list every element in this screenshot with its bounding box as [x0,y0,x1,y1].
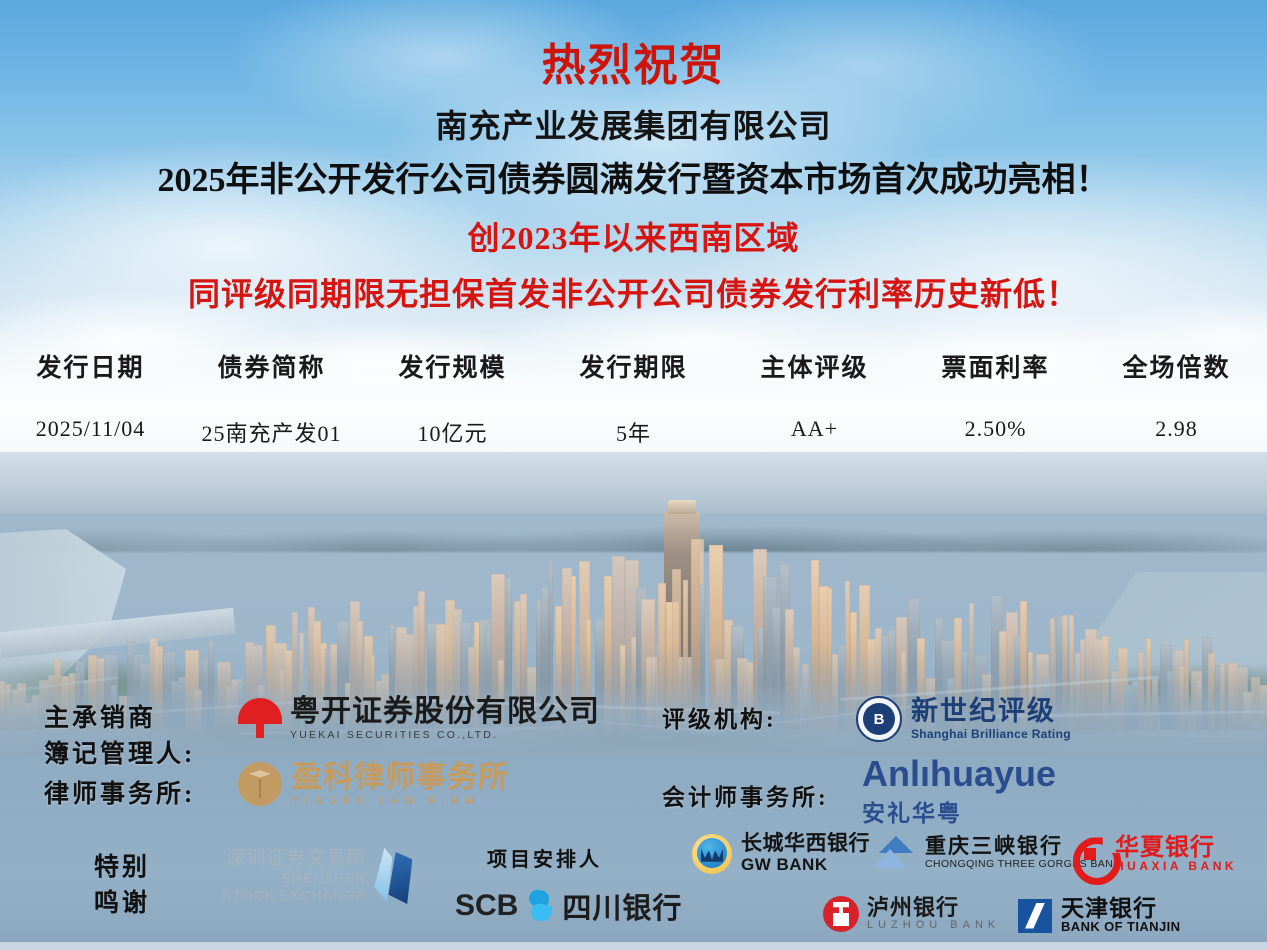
shanghai-brilliance-rating-logo: B 新世纪评级 Shanghai Brilliance Rating [856,696,1071,742]
anlihuayue-logo: Anlıhuayue 安礼华粤 [862,756,1056,828]
luzhou-bank-name-en: LUZHOU BANK [867,919,1000,932]
szse-sail-icon [372,848,414,904]
table-header-row: 发行日期 债券简称 发行规模 发行期限 主体评级 票面利率 全场倍数 [0,348,1267,384]
szse-name-cn: 深圳证券交易所 [222,848,366,870]
huaxia-c-icon [1073,837,1107,871]
accounting-firm-label: 会计师事务所: [662,778,829,812]
scb-droplet-icon [525,889,555,923]
szse-name-en2: STOCK EXCHANGE [222,887,366,904]
gw-bank-name-en: GW BANK [741,855,870,875]
arranger-label: 项目安排人 [487,843,602,872]
tianjin-square-icon [1018,899,1052,933]
headings-block: 热烈祝贺 南充产业发展集团有限公司 2025年非公开发行公司债券圆满发行暨资本市… [0,0,1267,310]
yuekai-name-en: YUEKAI SECURITIES CO.,LTD. [290,729,600,741]
red-line-1: 创2023年以来西南区域 [0,222,1267,254]
th-bond-name: 债券简称 [181,348,362,384]
shenzhen-stock-exchange-logo: 深圳证券交易所 SHENZHEN STOCK EXCHANGE [222,848,414,904]
td-issue-size: 10亿元 [362,416,543,448]
congratulation-poster: 热烈祝贺 南充产业发展集团有限公司 2025年非公开发行公司债券圆满发行暨资本市… [0,0,1267,950]
yingke-name-en: YINGKE LAW FIRM [292,795,509,807]
td-issue-date: 2025/11/04 [0,416,181,448]
special-thanks-line2: 鸣谢 [62,886,182,922]
th-issue-term: 发行期限 [543,348,724,384]
headline: 热烈祝贺 [0,44,1267,88]
yingke-name-cn: 盈科律师事务所 [292,762,509,794]
th-issuer-rating: 主体评级 [724,348,905,384]
red-line-2: 同评级同期限无担保首发非公开公司债券发行利率历史新低！ [0,278,1267,310]
underwriter-label-line1: 主承销商 [44,698,156,734]
table-row: 2025/11/04 25南充产发01 10亿元 5年 AA+ 2.50% 2.… [0,416,1267,448]
th-oversubscription: 全场倍数 [1086,348,1267,384]
td-oversubscription: 2.98 [1086,416,1267,448]
luzhou-coin-icon [823,896,859,932]
huaxia-bank-name-en: HUAXIA BANK [1115,860,1237,874]
td-issue-term: 5年 [543,416,724,448]
tianjin-bank-name-cn: 天津银行 [1061,896,1180,920]
luzhou-bank-name-cn: 泸州银行 [867,896,1000,919]
gw-bank-icon [692,834,732,874]
brilliance-monogram: B [863,703,895,735]
bottom-strip [0,942,1267,950]
brilliance-seal-icon: B [856,696,902,742]
city-fade-overlay [0,452,1267,762]
yuekai-name-cn: 粤开证券股份有限公司 [290,696,600,728]
underwriter-label-line2: 簿记管理人: [44,734,195,770]
th-issue-date: 发行日期 [0,348,181,384]
tianjin-bank-name-en: BANK OF TIANJIN [1061,920,1180,935]
cityscape-photo [0,452,1267,762]
brilliance-name-cn: 新世纪评级 [911,697,1071,725]
company-name: 南充产业发展集团有限公司 [0,110,1267,142]
scb-abbr: SCB [455,889,518,923]
yingke-cube-icon [238,762,282,806]
td-bond-name: 25南充产发01 [181,416,362,448]
gw-bank-name-cn: 长城华西银行 [741,833,870,855]
huaxia-bank-logo: 华夏银行 HUAXIA BANK [1073,835,1237,874]
yingke-law-firm-logo: 盈科律师事务所 YINGKE LAW FIRM [238,762,509,807]
law-firm-label: 律师事务所: [44,774,195,810]
yuekai-securities-logo: 粤开证券股份有限公司 YUEKAI SECURITIES CO.,LTD. [238,696,600,741]
th-coupon-rate: 票面利率 [905,348,1086,384]
three-gorges-icon [873,836,917,870]
rating-agency-label: 评级机构: [662,700,777,734]
td-issuer-rating: AA+ [724,416,905,448]
scb-name-cn: 四川银行 [562,885,682,927]
tianjin-bank-logo: 天津银行 BANK OF TIANJIN [1018,896,1180,935]
yuekai-mark-icon [238,696,282,740]
szse-name-en1: SHENZHEN [222,870,366,887]
bond-summary-table: 发行日期 债券简称 发行规模 发行期限 主体评级 票面利率 全场倍数 2025/… [0,348,1267,448]
th-issue-size: 发行规模 [362,348,543,384]
luzhou-bank-logo: 泸州银行 LUZHOU BANK [823,896,1000,932]
anlihuayue-name-en: Anlıhuayue [862,756,1056,792]
huaxia-bank-name-cn: 华夏银行 [1115,835,1237,860]
brilliance-name-en: Shanghai Brilliance Rating [911,727,1071,741]
td-coupon-rate: 2.50% [905,416,1086,448]
anlihuayue-name-cn: 安礼华粤 [862,794,1056,828]
gw-bank-logo: 长城华西银行 GW BANK [692,833,870,875]
special-thanks-line1: 特别 [62,850,182,886]
special-thanks-label: 特别 鸣谢 [62,850,182,923]
subtitle-line: 2025年非公开发行公司债券圆满发行暨资本市场首次成功亮相！ [0,164,1267,198]
sichuan-bank-logo: SCB 四川银行 [455,885,682,927]
